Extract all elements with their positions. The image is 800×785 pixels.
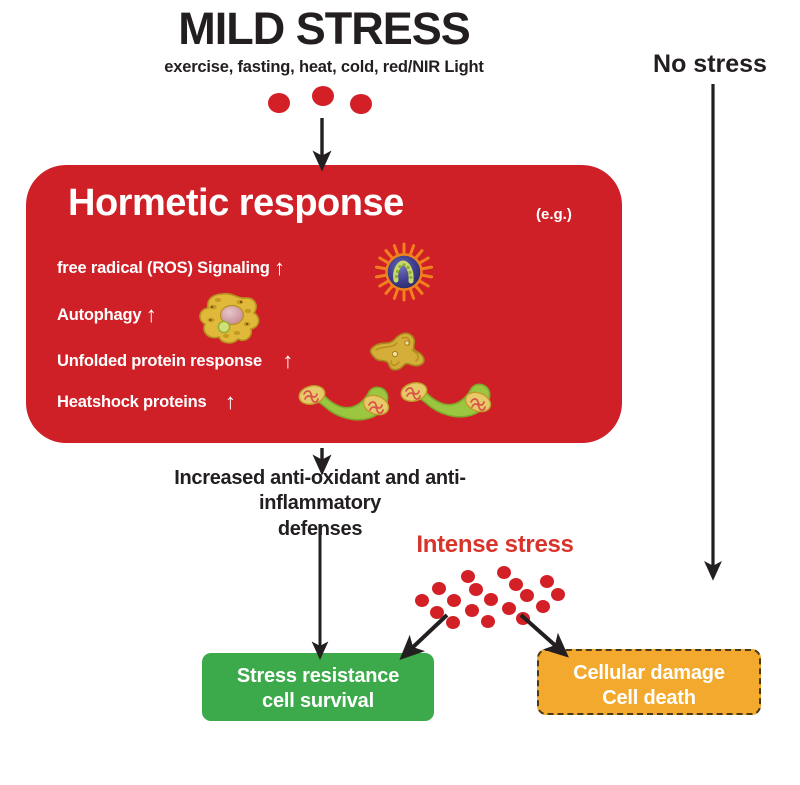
stress-dot: [461, 570, 475, 583]
stress-dot: [497, 566, 511, 579]
stress-dot: [502, 602, 516, 615]
stress-dot: [481, 615, 495, 628]
hormesis-diagram: MILD STRESS exercise, fasting, heat, col…: [0, 0, 800, 785]
outcome-line-2: Cell death: [602, 687, 696, 709]
cellular-damage-box[interactable]: Cellular damage Cell death: [537, 649, 761, 715]
stress-resistance-box[interactable]: Stress resistance cell survival: [202, 653, 434, 721]
cellular-damage-label: Cellular damage Cell death: [539, 661, 759, 711]
stress-dot: [516, 612, 530, 625]
stress-dot: [551, 588, 565, 601]
stress-dot: [520, 589, 534, 602]
stress-resistance-label: Stress resistance cell survival: [202, 664, 434, 714]
outcome-line-1: Cellular damage: [573, 662, 725, 684]
stress-dot: [469, 583, 483, 596]
stress-dot: [465, 604, 479, 617]
stress-dot: [430, 606, 444, 619]
stress-dot: [540, 575, 554, 588]
stress-dot: [536, 600, 550, 613]
stress-dot: [447, 594, 461, 607]
stress-dot: [446, 616, 460, 629]
outcome-line-2: cell survival: [262, 690, 374, 712]
stress-dot: [484, 593, 498, 606]
stress-dot: [432, 582, 446, 595]
outcome-line-1: Stress resistance: [237, 665, 399, 687]
stress-dot: [415, 594, 429, 607]
stress-dot: [509, 578, 523, 591]
